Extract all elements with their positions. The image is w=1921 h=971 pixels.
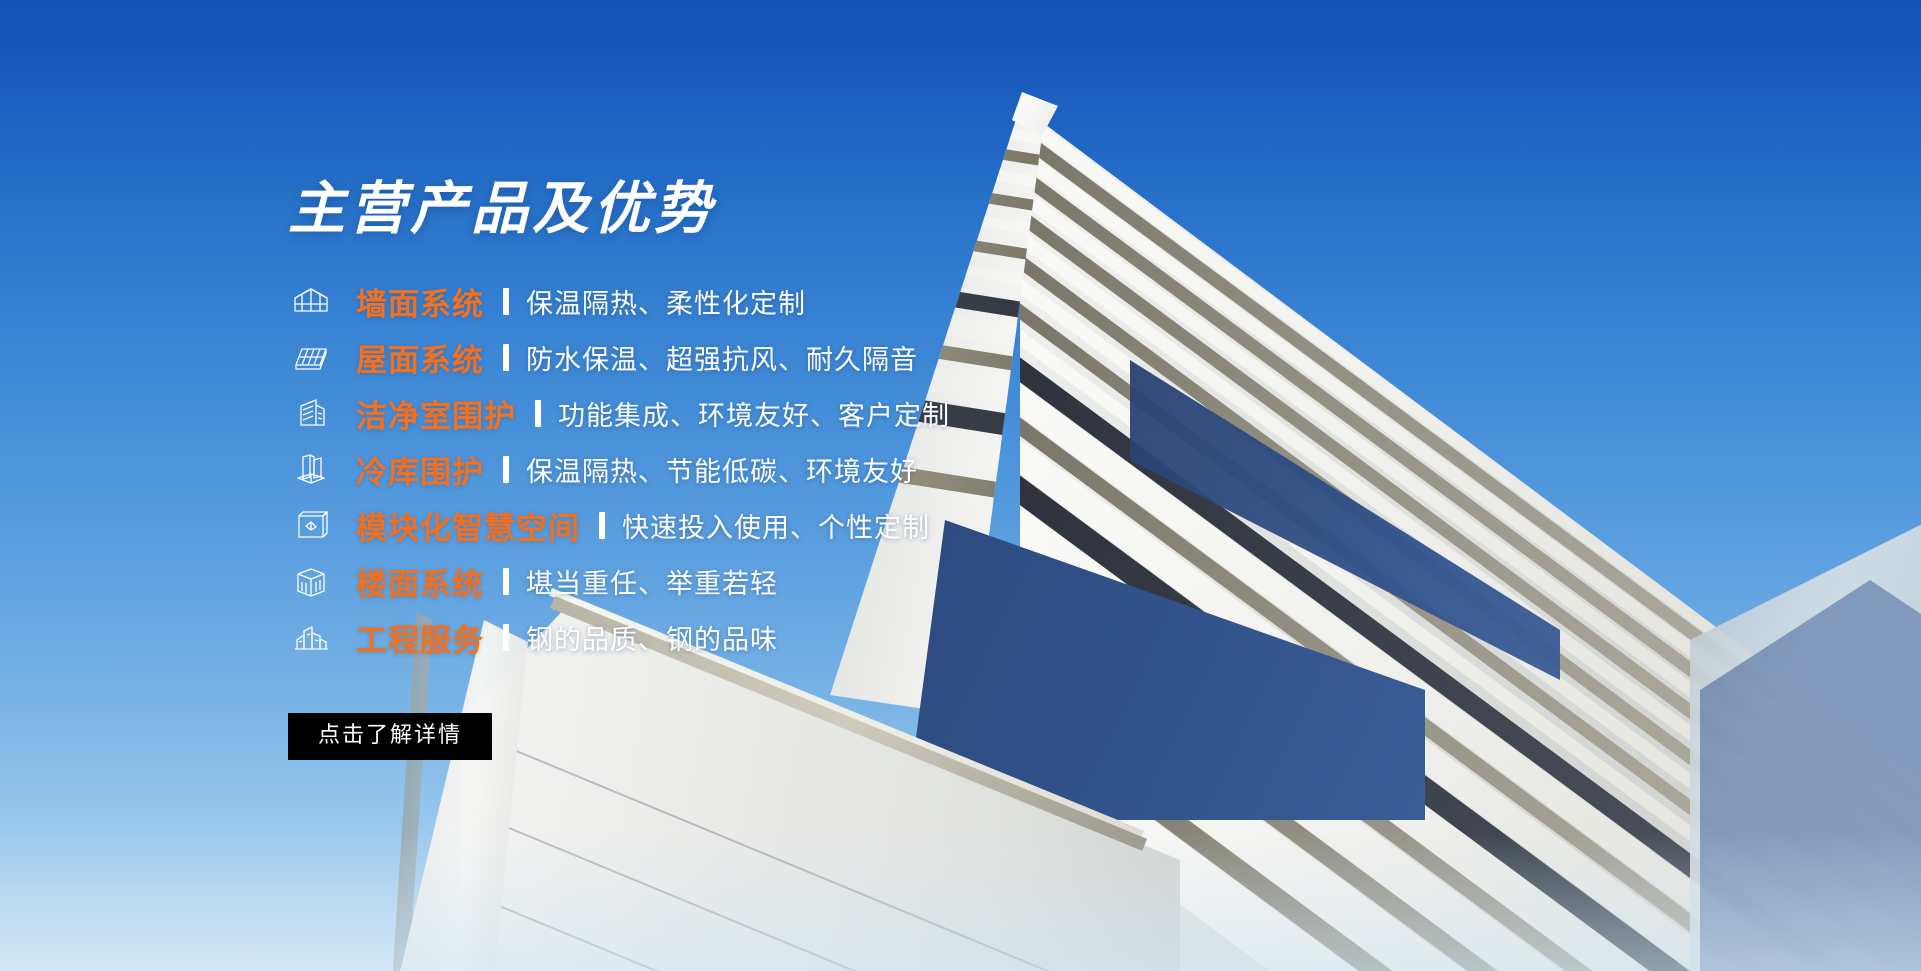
feature-title: 模块化智慧空间 <box>356 503 580 548</box>
feature-title: 屋面系统 <box>356 335 484 380</box>
feature-separator <box>503 344 509 371</box>
feature-separator <box>503 624 509 651</box>
feature-description: 堪当重任、举重若轻 <box>526 562 778 601</box>
feature-description: 钢的品质、钢的品味 <box>526 618 778 657</box>
engineering-service-icon <box>288 614 334 660</box>
feature-title: 楼面系统 <box>356 559 484 604</box>
wall-system-icon <box>288 278 334 324</box>
horizon-haze <box>0 831 1921 971</box>
hero-banner: 主营产品及优势 墙面系统 保温隔热、柔性化定制 <box>0 0 1921 971</box>
modular-space-icon <box>288 502 334 548</box>
feature-separator <box>503 456 509 483</box>
feature-title: 洁净室围护 <box>356 391 516 436</box>
feature-description: 功能集成、环境友好、客户定制 <box>558 394 950 433</box>
roof-system-icon <box>288 334 334 380</box>
feature-title: 工程服务 <box>356 615 484 660</box>
feature-row-engineering-service[interactable]: 工程服务 钢的品质、钢的品味 <box>288 610 1268 665</box>
feature-description: 保温隔热、节能低碳、环境友好 <box>526 450 918 489</box>
feature-separator <box>503 568 509 595</box>
cold-storage-icon <box>288 446 334 492</box>
page-title: 主营产品及优势 <box>288 180 1268 240</box>
feature-title: 墙面系统 <box>356 279 484 324</box>
learn-more-button[interactable]: 点击了解详情 <box>288 713 492 760</box>
background-building-right <box>1690 520 1921 971</box>
product-feature-list: 墙面系统 保温隔热、柔性化定制 屋面系统 防水保温 <box>288 274 1268 665</box>
feature-description: 防水保温、超强抗风、耐久隔音 <box>526 338 918 377</box>
cleanroom-icon <box>288 390 334 436</box>
feature-separator <box>535 400 541 427</box>
feature-separator <box>599 512 605 539</box>
background-building-right-glazing <box>1700 560 1921 971</box>
feature-separator <box>503 288 509 315</box>
feature-description: 保温隔热、柔性化定制 <box>526 282 806 321</box>
feature-row-modular-space[interactable]: 模块化智慧空间 快速投入使用、个性定制 <box>288 498 1268 553</box>
feature-row-cleanroom[interactable]: 洁净室围护 功能集成、环境友好、客户定制 <box>288 386 1268 441</box>
feature-row-wall-system[interactable]: 墙面系统 保温隔热、柔性化定制 <box>288 274 1268 329</box>
feature-row-floor-system[interactable]: 楼面系统 堪当重任、举重若轻 <box>288 554 1268 609</box>
feature-title: 冷库围护 <box>356 447 484 492</box>
feature-row-roof-system[interactable]: 屋面系统 防水保温、超强抗风、耐久隔音 <box>288 330 1268 385</box>
feature-row-cold-storage[interactable]: 冷库围护 保温隔热、节能低碳、环境友好 <box>288 442 1268 497</box>
cta-container: 点击了解详情 <box>288 713 1268 760</box>
hero-content: 主营产品及优势 墙面系统 保温隔热、柔性化定制 <box>288 180 1268 760</box>
tower-apex-highlight <box>1012 92 1064 136</box>
feature-description: 快速投入使用、个性定制 <box>622 506 930 545</box>
floor-system-icon <box>288 558 334 604</box>
